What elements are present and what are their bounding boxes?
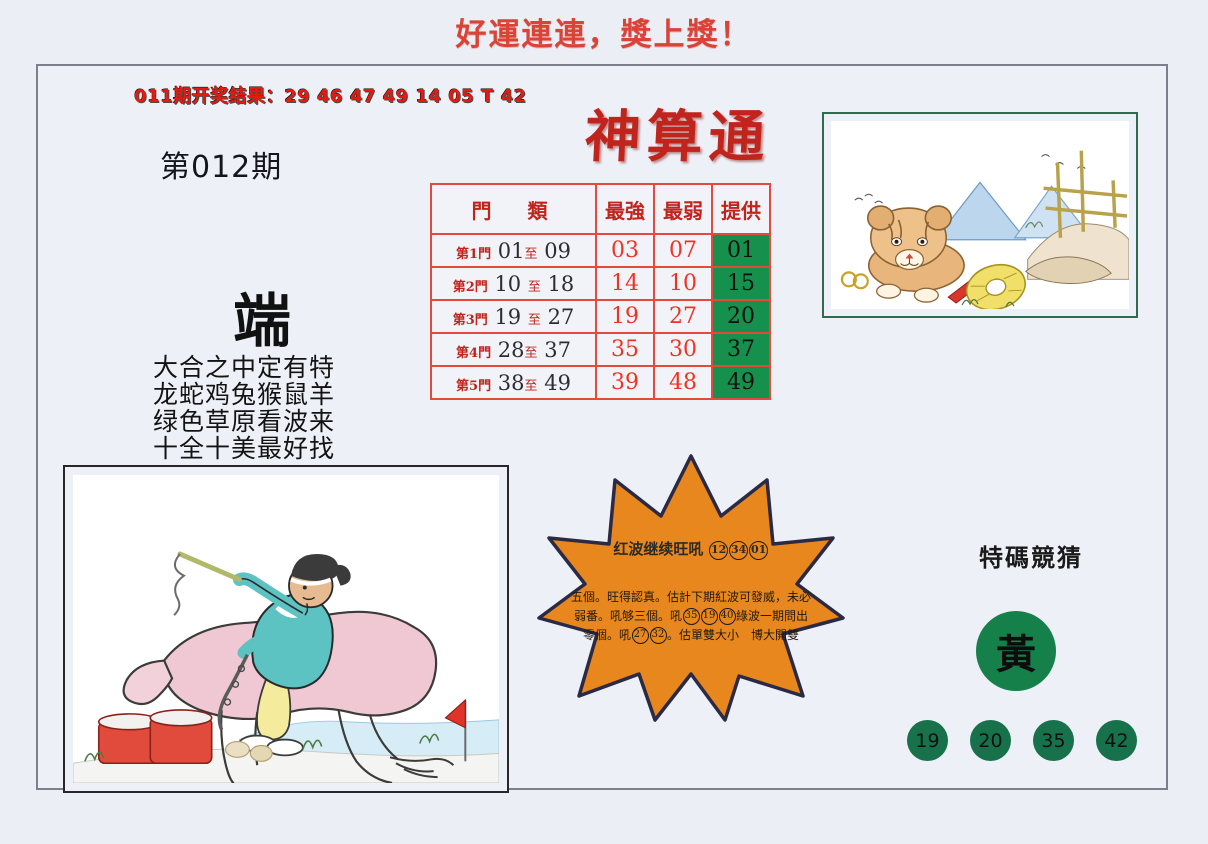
feature-character: 端 [233, 274, 291, 358]
body-number: 19 [701, 608, 718, 625]
cell-provided: 15 [712, 267, 770, 300]
gate-label: 第4門 [456, 346, 491, 361]
body-text: 綠波一期問出 [736, 609, 808, 623]
number-ball: 19 [907, 720, 948, 761]
cell-strongest: 14 [596, 267, 654, 300]
range-from: 19 [494, 305, 521, 329]
range-to: 49 [544, 371, 571, 395]
horse-illustration-frame [63, 465, 509, 793]
gate-label: 第5門 [456, 379, 491, 394]
table-row: 第5門 38至 49 39 48 49 [431, 366, 770, 399]
cell-weakest: 30 [654, 333, 712, 366]
body-number: 32 [650, 627, 667, 644]
poem-line: 绿色草原看波来 [124, 408, 364, 435]
range-to: 18 [548, 272, 575, 296]
range-from: 01 [498, 239, 525, 263]
headline-text: 红波继续旺吼 [613, 540, 703, 558]
headline-number: 12 [709, 541, 728, 560]
previous-draw-result: 011期开奖结果：29 46 47 49 14 05 T 42 [134, 82, 527, 108]
body-line: 五個。旺得認真。估計下期紅波可發威，未必 [543, 588, 839, 607]
range-zhi: 至 [525, 379, 538, 394]
cell-strongest: 35 [596, 333, 654, 366]
top-banner: 好運連連，獎上獎！ [0, 0, 1208, 62]
current-issue-label: 第012期 [160, 142, 282, 186]
cell-weakest: 10 [654, 267, 712, 300]
special-code-guess-title: 特碼競猜 [931, 538, 1131, 573]
cell-provided: 01 [712, 234, 770, 267]
cell-range: 第2門 10 至 18 [431, 267, 596, 300]
range-from: 28 [498, 338, 525, 362]
cell-range: 第5門 38至 49 [431, 366, 596, 399]
poem-line: 大合之中定有特 [124, 354, 364, 381]
gate-label: 第2門 [453, 280, 488, 295]
table-row: 第1門 01至 09 03 07 01 [431, 234, 770, 267]
range-zhi: 至 [525, 346, 538, 361]
range-to: 27 [548, 305, 575, 329]
th-weakest: 最弱 [654, 184, 712, 234]
cell-range: 第4門 28至 37 [431, 333, 596, 366]
number-balls-row: 19 20 35 42 [907, 720, 1137, 761]
body-text: 零個。吼 [583, 628, 631, 642]
table-row: 第2門 10 至 18 14 10 15 [431, 267, 770, 300]
banner-text: 好運連連，獎上獎！ [456, 9, 753, 54]
body-line: 弱番。吼够三個。吼351940綠波一期問出 [543, 607, 839, 626]
main-frame: 011期开奖结果：29 46 47 49 14 05 T 42 第012期 神算… [36, 64, 1168, 790]
starburst-headline: 红波继续旺吼 123401 [535, 538, 847, 560]
body-number: 40 [719, 608, 736, 625]
tiger-illustration [831, 121, 1129, 309]
range-zhi: 至 [528, 313, 541, 328]
number-ball: 35 [1033, 720, 1074, 761]
number-ball: 42 [1096, 720, 1137, 761]
body-text: 五個。旺得認真。估計下期紅波可發威，未必 [571, 590, 811, 604]
cell-weakest: 27 [654, 300, 712, 333]
cell-range: 第3門 19 至 27 [431, 300, 596, 333]
horse-illustration [73, 475, 499, 783]
table-header-row: 門 類 最強 最弱 提供 [431, 184, 770, 234]
th-strongest: 最強 [596, 184, 654, 234]
starburst-callout: 红波继续旺吼 123401 五個。旺得認真。估計下期紅波可發威，未必 弱番。吼够… [535, 452, 847, 724]
cell-range: 第1門 01至 09 [431, 234, 596, 267]
poem-line: 十全十美最好找 [124, 435, 364, 462]
range-from: 10 [494, 272, 521, 296]
cell-provided: 49 [712, 366, 770, 399]
headline-number: 01 [749, 541, 768, 560]
range-to: 37 [544, 338, 571, 362]
cell-provided: 37 [712, 333, 770, 366]
starburst-body: 五個。旺得認真。估計下期紅波可發威，未必 弱番。吼够三個。吼351940綠波一期… [543, 588, 839, 645]
guess-color-ball: 黃 [976, 611, 1056, 691]
range-to: 09 [544, 239, 571, 263]
cell-strongest: 03 [596, 234, 654, 267]
tiger-illustration-frame [822, 112, 1138, 318]
poem-block: 大合之中定有特 龙蛇鸡兔猴鼠羊 绿色草原看波来 十全十美最好找 [124, 354, 364, 462]
number-ball: 20 [970, 720, 1011, 761]
range-from: 38 [498, 371, 525, 395]
table-row: 第4門 28至 37 35 30 37 [431, 333, 770, 366]
cell-weakest: 07 [654, 234, 712, 267]
range-zhi: 至 [528, 280, 541, 295]
body-text: 。估單雙大小 博大開雙 [667, 628, 799, 642]
headline-number: 34 [729, 541, 748, 560]
table-row: 第3門 19 至 27 19 27 20 [431, 300, 770, 333]
gate-forecast-table: 門 類 最強 最弱 提供 第1門 01至 09 03 07 01 第2門 10 … [430, 183, 771, 400]
cell-strongest: 39 [596, 366, 654, 399]
body-text: 弱番。吼够三個。吼 [574, 609, 682, 623]
th-category: 門 類 [431, 184, 596, 234]
body-number: 35 [683, 608, 700, 625]
cell-strongest: 19 [596, 300, 654, 333]
poem-line: 龙蛇鸡兔猴鼠羊 [124, 381, 364, 408]
cell-weakest: 48 [654, 366, 712, 399]
body-line: 零個。吼2732。估單雙大小 博大開雙 [543, 626, 839, 645]
site-logo: 神算通 [546, 96, 810, 168]
range-zhi: 至 [525, 247, 538, 262]
body-number: 27 [632, 627, 649, 644]
gate-label: 第1門 [456, 247, 491, 262]
gate-label: 第3門 [453, 313, 488, 328]
cell-provided: 20 [712, 300, 770, 333]
th-provided: 提供 [712, 184, 770, 234]
